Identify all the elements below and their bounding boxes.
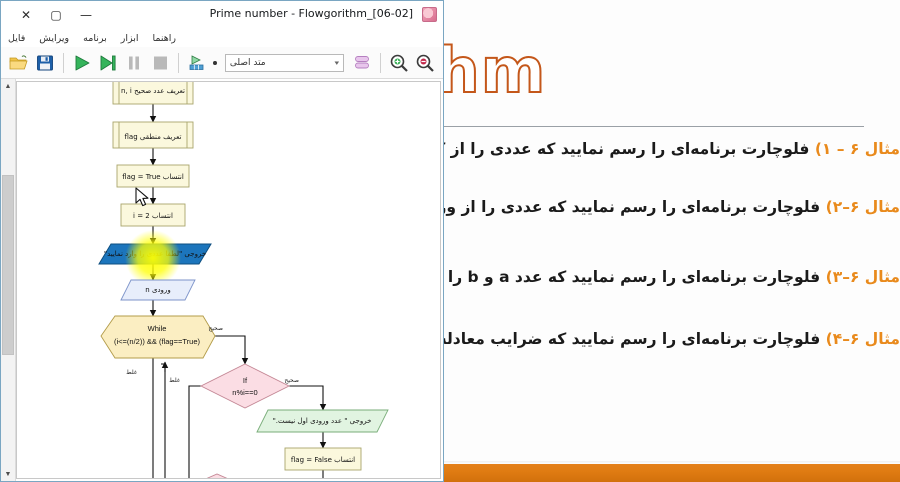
flow-node-while[interactable]: While (i<=(n/2)) && (flag==True) [101,316,215,358]
flow-node-declare-int[interactable]: تعریف عدد صحیح n, i [113,82,193,104]
scrollbar-track[interactable] [1,93,15,467]
stop-button[interactable] [148,50,172,76]
save-button[interactable] [33,50,57,76]
flow-node-label: تعریف عدد صحیح n, i [121,87,185,95]
flow-node-label: انتساب i = 2 [133,212,173,220]
exercise-item: مثال ۶–۲) فلوچارت برنامه‌ای را رسم نمایی… [430,198,900,217]
flow-node-declare-bool[interactable]: تعریف منطقی flag [113,122,193,148]
flow-node-label: انتساب flag = False [291,456,355,464]
stop-square-icon [151,54,169,72]
run-button[interactable] [70,50,94,76]
flow-node-label-line2: (i<=(n/2)) && (flag==True) [114,337,201,346]
toolbar-separator [63,53,64,73]
method-select[interactable]: ▾ متد اصلی [225,54,344,72]
exercise-text: فلوچارت برنامه‌ای را رسم نمایید که عددی … [430,198,820,216]
flow-node-output-notprime[interactable]: خروجی " عدد ورودی اول نیست." [257,410,388,432]
menubar: فایل ویرایش برنامه ابزار راهنما [1,29,443,47]
toolbar-separator [178,53,179,73]
exercise-number: مثال ۶ – ۱) [815,140,900,158]
exercise-text: فلوچارت برنامه‌ای را رسم نمایید که ضرایب… [430,330,820,348]
step-button[interactable] [96,50,120,76]
exercise-item: مثال ۶–۴) فلوچارت برنامه‌ای را رسم نمایی… [430,330,900,349]
chevron-down-icon: ▾ [335,59,340,67]
flow-node-label: تعریف منطقی flag [125,133,182,141]
flow-node-output-prompt[interactable]: خروجی "لطفا عددی را وارد نمایید" [99,244,211,264]
branch-label-true: صحیح [208,325,223,332]
exercise-number: مثال ۶–۳) [826,268,900,286]
menu-item-tools[interactable]: ابزار [114,32,146,45]
zoom-out-icon [415,53,435,73]
exercise-number: مثال ۶–۴) [826,330,900,348]
flowchart-canvas[interactable]: تعریف عدد صحیح n, i تعریف منطقی flag انت… [16,81,441,479]
exercise-text: فلوچارت برنامه‌ای را رسم نمایید که عددی … [430,140,809,158]
branch-label-false: غلط [169,377,180,384]
zoom-in-button[interactable] [387,50,411,76]
flow-node-assign-i[interactable]: انتساب i = 2 [121,204,185,226]
menu-item-help[interactable]: راهنما [146,32,184,45]
open-button[interactable] [7,50,31,76]
menu-item-program[interactable]: برنامه [76,32,114,45]
open-folder-icon [9,54,29,72]
exercise-number: مثال ۶–۲) [826,198,900,216]
dropdown-dot-icon[interactable] [213,61,217,65]
debug-step-icon [187,54,207,72]
flow-node-if[interactable]: If n%i==0 [201,364,289,408]
window-minimize-icon[interactable]: — [71,4,101,26]
toolbar: ▾ متد اصلی [1,47,443,79]
flow-node-input-n[interactable]: ورودی n [121,280,195,300]
flow-node-partial-if-bottom[interactable] [185,474,249,479]
flow-node-assign-false[interactable]: انتساب flag = False [285,448,361,470]
scroll-down-icon[interactable]: ▼ [1,467,15,481]
flow-node-label: خروجی "لطفا عددی را وارد نمایید" [104,250,206,258]
debug-button[interactable] [185,50,209,76]
app-logo-icon [422,7,437,22]
toolbar-separator [380,53,381,73]
window-maximize-icon[interactable]: ▢ [41,4,71,26]
pause-icon [125,54,143,72]
stacked-shapes-icon [352,54,372,72]
menu-item-edit[interactable]: ویرایش [32,32,76,45]
flow-node-label-line1: While [148,324,167,333]
exercise-item: مثال ۶–۳) فلوچارت برنامه‌ای را رسم نمایی… [430,268,900,287]
method-select-value: متد اصلی [230,58,266,68]
window-titlebar: ✕ ▢ — Prime number - Flowgorithm_[06-02] [1,1,443,29]
editor-area: ▲ ▼ [1,79,443,481]
save-floppy-icon [36,54,54,72]
menu-item-file[interactable]: فایل [1,32,32,45]
branch-label-true: صحیح [284,377,299,384]
step-forward-icon [98,54,118,72]
flow-node-label: انتساب flag = True [122,173,184,181]
play-icon [72,54,92,72]
window-title: Prime number - Flowgorithm_[06-02] [210,7,413,20]
flow-node-label-line2: n%i==0 [232,388,257,397]
flow-node-assign-flag[interactable]: انتساب flag = True [117,165,189,187]
zoom-out-button[interactable] [413,50,437,76]
title-divider [444,126,864,127]
window-close-icon[interactable]: ✕ [11,4,41,26]
vertical-scrollbar[interactable]: ▲ ▼ [1,79,16,481]
scrollbar-thumb[interactable] [2,175,14,355]
zoom-in-icon [389,53,409,73]
branch-label-false: غلط [126,369,137,376]
exercise-text: فلوچارت برنامه‌ای را رسم نمایید که عدد a… [448,268,820,286]
flowchart-svg: تعریف عدد صحیح n, i تعریف منطقی flag انت… [17,82,441,479]
flow-node-label: ورودی n [145,286,170,294]
pause-button[interactable] [122,50,146,76]
flow-node-label: خروجی " عدد ورودی اول نیست." [273,417,372,425]
scroll-up-icon[interactable]: ▲ [1,79,15,93]
exercise-item: مثال ۶ – ۱) فلوچارت برنامه‌ای را رسم نما… [430,140,900,159]
flowgorithm-window: ✕ ▢ — Prime number - Flowgorithm_[06-02]… [0,0,444,482]
shapes-button[interactable] [350,50,374,76]
